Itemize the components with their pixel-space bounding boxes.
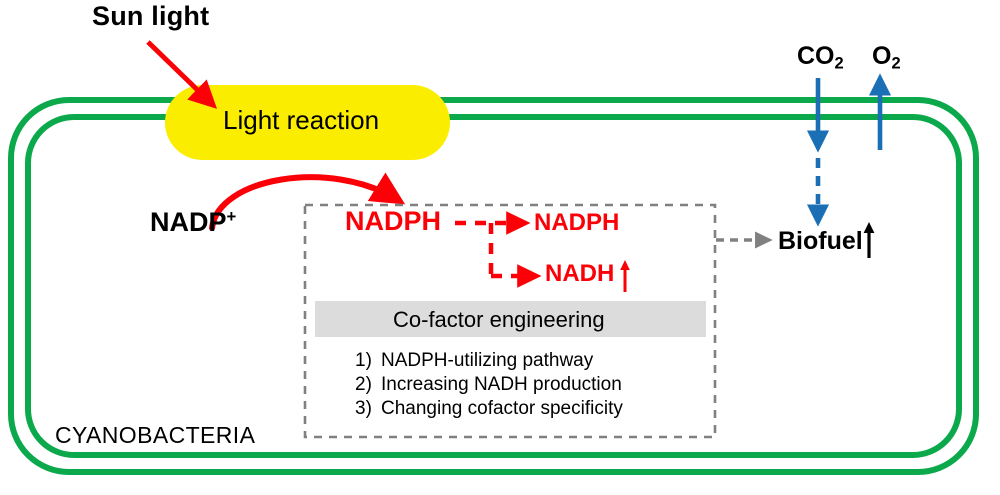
list-item-number: 2) (355, 373, 381, 397)
o2-subscript: 2 (891, 55, 900, 73)
list-item: 2)Increasing NADH production (355, 373, 623, 397)
list-item-text: Increasing NADH production (381, 374, 622, 395)
list-item-text: Changing cofactor specificity (381, 398, 623, 419)
co2-subscript: 2 (835, 55, 844, 73)
nadh-increase-arrow-icon (620, 260, 630, 292)
list-item: 1)NADPH-utilizing pathway (355, 349, 623, 373)
light-reaction-label: Light reaction (223, 107, 379, 133)
nadph-source-label: NADPH (345, 208, 441, 235)
sun-light-label: Sun light (92, 3, 209, 30)
diagram-canvas: Sun light Light reaction NADP+ NADPH NAD… (0, 0, 1000, 495)
nadp-plus-label: NADP+ (150, 209, 236, 236)
nadh-target-text: NADH (545, 260, 614, 287)
o2-text: O (872, 42, 891, 70)
cofactor-engineering-header: Co-factor engineering (393, 309, 605, 331)
cofactor-engineering-list: 1)NADPH-utilizing pathway 2)Increasing N… (355, 349, 623, 421)
nadph-target-label: NADPH (534, 211, 619, 235)
nadh-target-label: NADH (545, 262, 614, 286)
co2-text: CO (797, 42, 835, 70)
biofuel-label: Biofuel (778, 229, 863, 254)
biofuel-increase-arrow-icon (864, 222, 875, 258)
list-item-text: NADPH-utilizing pathway (381, 350, 593, 371)
list-item-number: 3) (355, 397, 381, 421)
list-item-number: 1) (355, 349, 381, 373)
co2-label: CO2 (797, 44, 844, 72)
o2-label: O2 (872, 44, 901, 72)
nadp-plus-text: NADP (150, 207, 227, 237)
list-item: 3)Changing cofactor specificity (355, 397, 623, 421)
cyanobacteria-label: CYANOBACTERIA (55, 424, 255, 447)
biofuel-text: Biofuel (778, 227, 863, 255)
nadp-plus-superscript: + (227, 207, 237, 226)
